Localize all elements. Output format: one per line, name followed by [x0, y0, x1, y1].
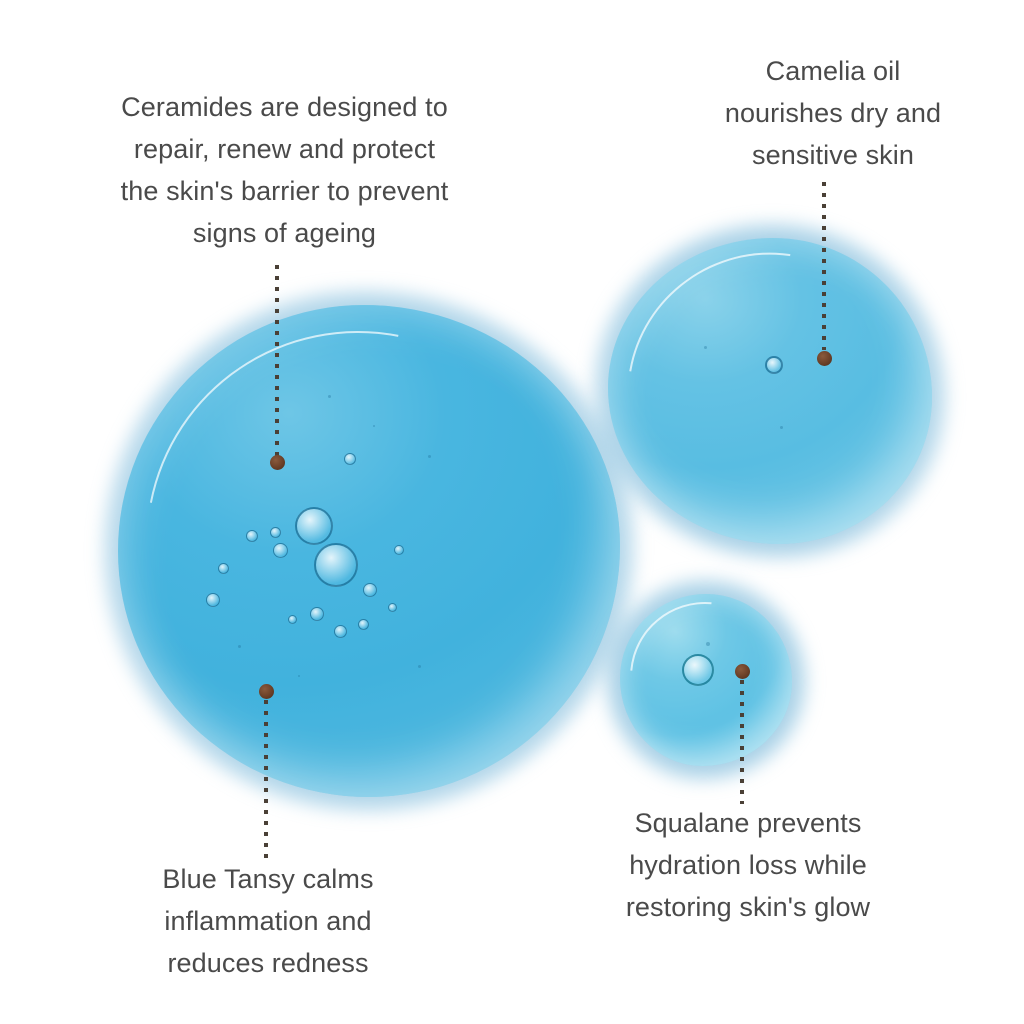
bubble	[295, 507, 333, 545]
bubble	[288, 615, 297, 624]
marker-dot-ceramides	[270, 455, 285, 470]
marker-dot-squalane	[735, 664, 750, 679]
speck	[428, 455, 431, 458]
leader-line-camelia	[822, 182, 826, 350]
speck	[418, 665, 421, 668]
speck	[238, 645, 241, 648]
marker-dot-camelia	[817, 351, 832, 366]
bubble	[270, 527, 281, 538]
leader-line-squalane	[740, 680, 744, 804]
marker-dot-blue-tansy	[259, 684, 274, 699]
bubble	[682, 654, 714, 686]
sheen-arc	[355, 477, 620, 797]
speck	[706, 642, 710, 646]
bubble	[310, 607, 324, 621]
bubble	[206, 593, 220, 607]
leader-line-ceramides	[275, 265, 279, 460]
callout-text-camelia: Camelia oil nourishes dry and sensitive …	[688, 50, 978, 176]
leader-line-blue-tansy	[264, 700, 268, 858]
callout-text-squalane: Squalane prevents hydration loss while r…	[592, 802, 904, 928]
speck	[373, 425, 375, 427]
bubble	[273, 543, 288, 558]
droplet-camelia	[608, 238, 932, 544]
droplet-main-body	[118, 305, 620, 797]
bubble	[314, 543, 358, 587]
callout-text-blue-tansy: Blue Tansy calms inflammation and reduce…	[118, 858, 418, 984]
bubble	[358, 619, 369, 630]
callout-text-ceramides: Ceramides are designed to repair, renew …	[72, 86, 497, 254]
bubble	[334, 625, 347, 638]
droplet-squalane	[620, 594, 792, 766]
bubble	[218, 563, 229, 574]
bubble	[394, 545, 404, 555]
bubble	[388, 603, 397, 612]
speck	[780, 426, 783, 429]
droplet-squalane-body	[620, 594, 792, 766]
bubble	[246, 530, 258, 542]
infographic-canvas: Ceramides are designed to repair, renew …	[0, 0, 1024, 1024]
speck	[328, 395, 331, 398]
sheen-arc	[118, 305, 620, 797]
droplet-main	[118, 305, 620, 797]
bubble	[765, 356, 783, 374]
speck	[704, 346, 707, 349]
bubble	[363, 583, 377, 597]
speck	[298, 675, 300, 677]
bubble	[344, 453, 356, 465]
